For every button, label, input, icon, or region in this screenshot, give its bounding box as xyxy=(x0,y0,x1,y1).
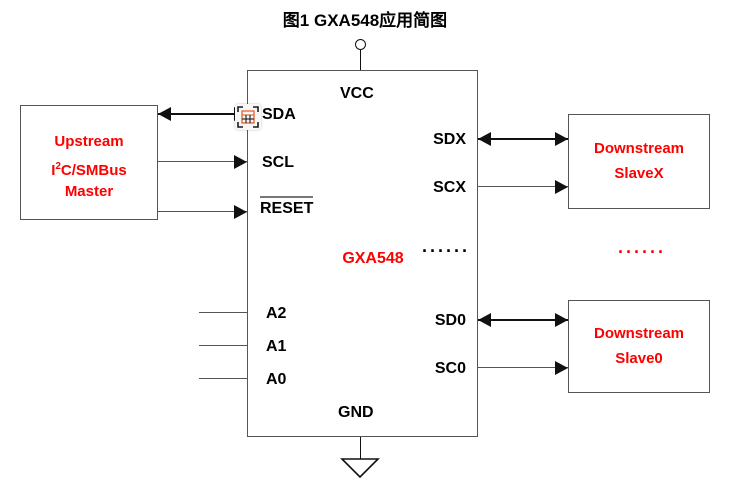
wire-sd0-arrow-left xyxy=(478,313,491,327)
wire-scl-arrow xyxy=(234,155,247,169)
vcc-terminal-circle xyxy=(355,39,366,50)
vcc-stem-wire xyxy=(360,50,361,71)
downstream-slavex-label-line1: Downstream xyxy=(568,136,710,161)
pin-label-sc0: SC0 xyxy=(398,360,466,378)
chip-name-label: GXA548 xyxy=(318,250,428,268)
downstream-slave0-label-line1: Downstream xyxy=(568,321,710,346)
wire-sc0-arrow xyxy=(555,361,568,375)
wire-a2-stub xyxy=(199,312,248,313)
upstream-label-line1: Upstream xyxy=(20,129,158,154)
wire-sdx-arrow-left xyxy=(478,132,491,146)
wire-sd0-arrow-right xyxy=(555,313,568,327)
figure-title: 图1 GXA548应用简图 xyxy=(0,6,730,31)
pin-label-reset: RESET xyxy=(260,200,313,218)
upstream-label-line3: Master xyxy=(20,179,158,204)
downstream-slave0-label-line2: Slave0 xyxy=(568,346,710,371)
downstream-slavex-label-line2: SlaveX xyxy=(568,161,710,186)
pin-label-a0: A0 xyxy=(266,371,286,389)
wire-reset-arrow xyxy=(234,205,247,219)
wire-a1-stub xyxy=(199,345,248,346)
wire-sdx-arrow-right xyxy=(555,132,568,146)
chip-ellipsis: ······ xyxy=(422,242,470,260)
diagram-canvas: 图1 GXA548应用简图 GXA548 VCC GND SDA SCL RES… xyxy=(0,0,730,491)
wire-a0-stub xyxy=(199,378,248,379)
wire-sda-arrow-left xyxy=(158,107,171,121)
pin-label-sdx: SDX xyxy=(398,131,466,149)
wire-scx-arrow xyxy=(555,180,568,194)
downstream-ellipsis: ······ xyxy=(618,243,666,261)
pin-label-vcc: VCC xyxy=(340,85,374,103)
pin-label-a1: A1 xyxy=(266,338,286,356)
upstream-i2c-rest: C/SMBus xyxy=(61,162,127,179)
pin-label-a2: A2 xyxy=(266,305,286,323)
pin-label-reset-text: RESET xyxy=(260,200,313,218)
gnd-triangle-icon xyxy=(340,457,380,479)
pin-label-scl: SCL xyxy=(262,154,294,172)
pin-label-sd0: SD0 xyxy=(398,312,466,330)
pin-label-sda: SDA xyxy=(262,106,296,124)
table-capture-icon[interactable] xyxy=(235,104,261,130)
pin-label-scx: SCX xyxy=(398,179,466,197)
pin-label-gnd: GND xyxy=(338,404,374,422)
